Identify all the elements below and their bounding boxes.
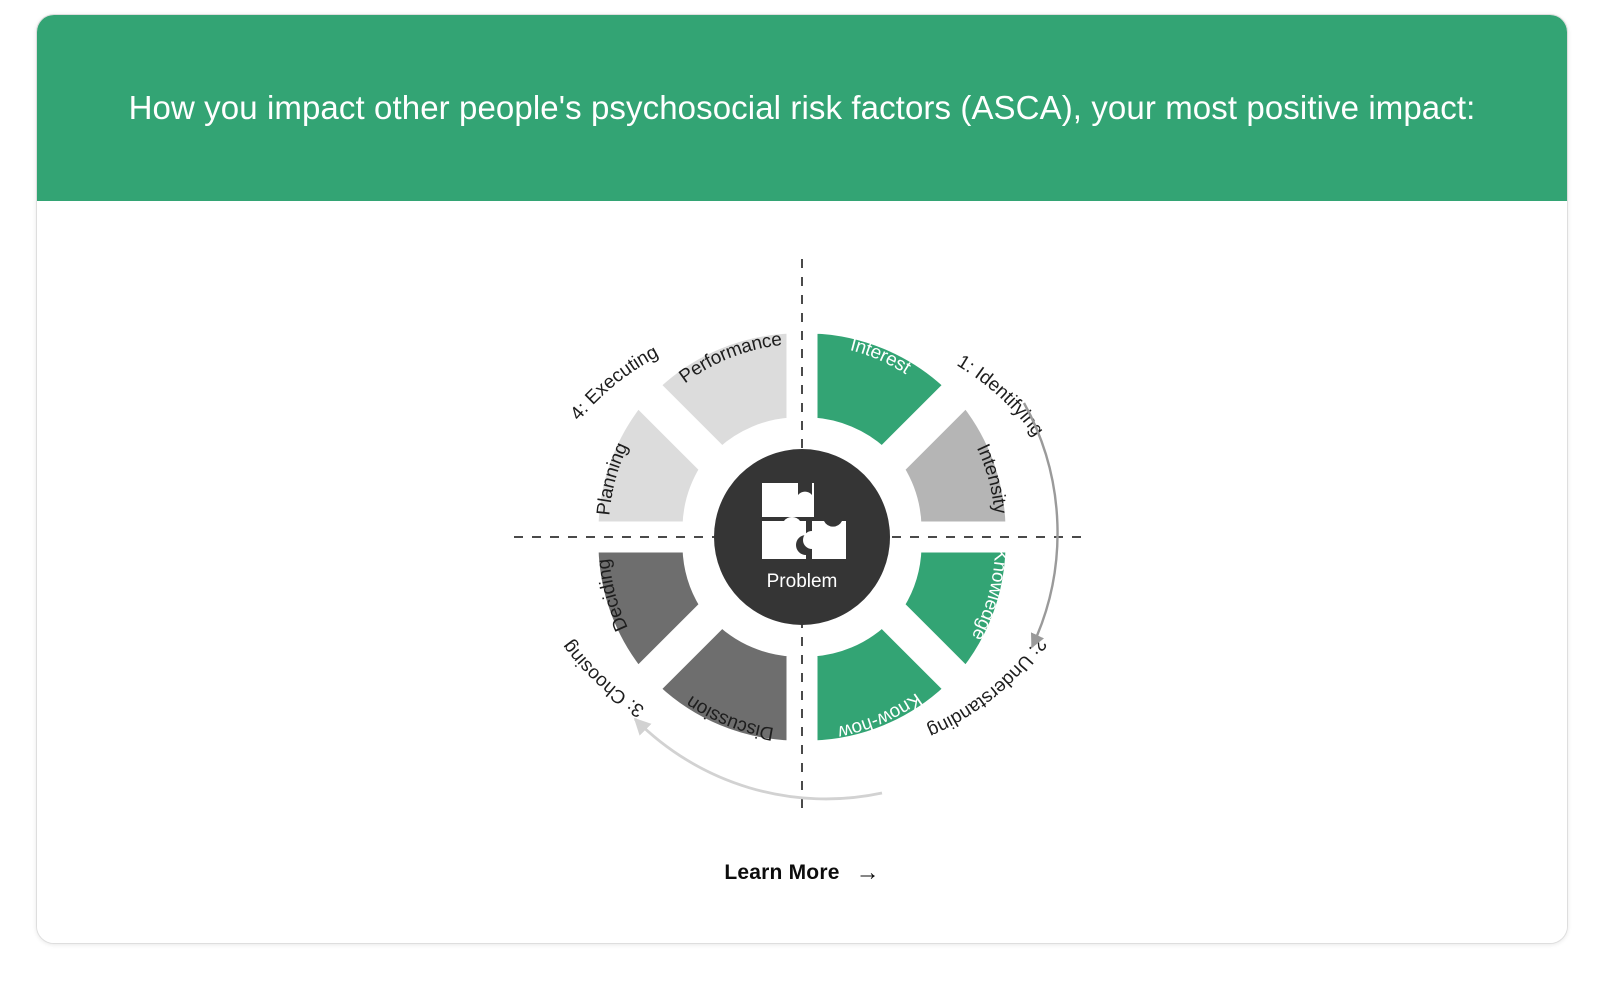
segment-interest[interactable]: Interest <box>813 329 948 451</box>
page-title: How you impact other people's psychosoci… <box>129 77 1476 138</box>
page-root: How you impact other people's psychosoci… <box>0 0 1604 998</box>
arrow-right-icon: → <box>856 861 880 885</box>
hub-problem[interactable]: Problem <box>714 449 890 625</box>
impact-card: How you impact other people's psychosoci… <box>36 14 1568 944</box>
flow-arrow-right <box>1024 403 1058 647</box>
learn-more-link[interactable]: Learn More → <box>724 861 879 885</box>
card-header: How you impact other people's psychosoci… <box>37 15 1567 201</box>
hub-label: Problem <box>767 571 838 592</box>
segment-performance[interactable]: Performance <box>656 329 791 451</box>
segment-discussion[interactable]: Discussion <box>656 623 791 745</box>
card-body: Interest Intensity Knowledge <box>37 201 1567 944</box>
learn-more-row: Learn More → <box>37 861 1567 885</box>
psychosocial-cycle-diagram: Interest Intensity Knowledge <box>472 237 1132 837</box>
learn-more-label: Learn More <box>724 861 839 885</box>
